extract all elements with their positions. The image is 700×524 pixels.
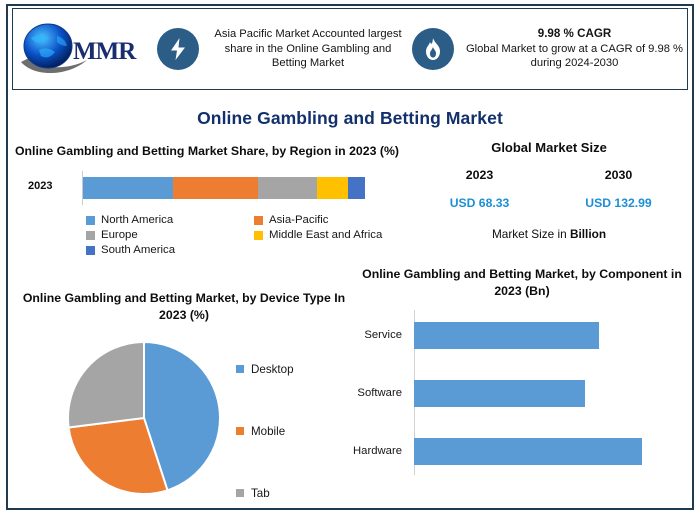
- component-label: Software: [352, 387, 410, 399]
- globe-icon: [21, 22, 77, 72]
- component-label: Hardware: [352, 445, 410, 457]
- region-segment-2: [258, 177, 317, 199]
- flame-icon: [412, 28, 454, 70]
- brand-logo: MMR: [13, 9, 153, 89]
- component-bar-hardware: [414, 438, 642, 465]
- legend-swatch-icon: [86, 231, 95, 240]
- header-band: MMR Asia Pacific Market Accounted larges…: [12, 8, 688, 90]
- header-highlight: Asia Pacific Market Accounted largest sh…: [153, 9, 408, 89]
- region-legend-item: Europe: [86, 229, 254, 241]
- header-cagr: 9.98 % CAGR Global Market to grow at a C…: [408, 9, 686, 89]
- component-title: Online Gambling and Betting Market, by C…: [352, 266, 692, 300]
- market-size-footnote: Market Size in Billion: [410, 227, 688, 241]
- market-size-year-start: 2023: [410, 168, 549, 182]
- region-legend-label: South America: [101, 244, 175, 256]
- legend-swatch-icon: [86, 216, 95, 225]
- legend-swatch-icon: [236, 427, 244, 435]
- market-size-footnote-unit: Billion: [570, 227, 606, 241]
- region-segment-1: [173, 177, 258, 199]
- region-share-chart: Online Gambling and Betting Market Share…: [14, 143, 400, 256]
- device-legend-label: Tab: [251, 487, 270, 500]
- region-legend-item: Middle East and Africa: [254, 229, 422, 241]
- device-legend-item: Desktop: [236, 338, 294, 400]
- region-share-stacked-bar: [83, 177, 365, 199]
- region-segment-4: [348, 177, 365, 199]
- lightning-bolt-icon: [157, 28, 199, 70]
- device-type-title: Online Gambling and Betting Market, by D…: [14, 290, 354, 324]
- cagr-description: Global Market to grow at a CAGR of 9.98 …: [466, 43, 683, 70]
- component-bar-software: [414, 380, 585, 407]
- market-size-value-start: USD 68.33: [410, 196, 549, 210]
- region-legend-label: Asia-Pacific: [269, 214, 329, 226]
- device-legend-item: Mobile: [236, 400, 294, 462]
- infographic-root: MMR Asia Pacific Market Accounted larges…: [0, 0, 700, 518]
- legend-swatch-icon: [254, 231, 263, 240]
- market-size-value-end: USD 132.99: [549, 196, 688, 210]
- pie-chart-graphic: [64, 338, 224, 498]
- header-highlight-text: Asia Pacific Market Accounted largest sh…: [208, 27, 408, 71]
- legend-swatch-icon: [86, 246, 95, 255]
- region-legend-item: South America: [86, 244, 254, 256]
- component-chart: Online Gambling and Betting Market, by C…: [352, 266, 692, 475]
- component-row: Hardware: [352, 434, 692, 468]
- component-label: Service: [352, 329, 410, 341]
- region-segment-0: [83, 177, 173, 199]
- component-row: Software: [352, 376, 692, 410]
- device-type-chart: Online Gambling and Betting Market, by D…: [14, 290, 354, 510]
- region-share-axis-label: 2023: [28, 180, 52, 192]
- market-size-values: USD 68.33 USD 132.99: [410, 196, 688, 210]
- device-type-legend: DesktopMobileTab: [236, 338, 294, 524]
- market-size-footnote-prefix: Market Size in: [492, 227, 570, 241]
- region-legend-item: North America: [86, 214, 254, 226]
- legend-swatch-icon: [236, 365, 244, 373]
- market-size-year-end: 2030: [549, 168, 688, 182]
- market-size-title: Global Market Size: [410, 140, 688, 155]
- component-bar-service: [414, 322, 599, 349]
- device-type-plot: DesktopMobileTab: [14, 330, 354, 510]
- region-segment-3: [317, 177, 348, 199]
- device-legend-label: Mobile: [251, 425, 285, 438]
- component-plot: ServiceSoftwareHardware: [352, 310, 692, 475]
- region-share-title: Online Gambling and Betting Market Share…: [14, 143, 400, 160]
- region-share-legend: North AmericaAsia-PacificEuropeMiddle Ea…: [86, 214, 400, 256]
- component-row: Service: [352, 318, 692, 352]
- device-legend-label: Desktop: [251, 363, 294, 376]
- region-legend-item: Asia-Pacific: [254, 214, 422, 226]
- market-size-years: 2023 2030: [410, 168, 688, 182]
- header-cagr-block: 9.98 % CAGR Global Market to grow at a C…: [463, 27, 686, 71]
- global-market-size-panel: Global Market Size 2023 2030 USD 68.33 U…: [410, 140, 688, 241]
- page-title: Online Gambling and Betting Market: [0, 108, 700, 129]
- legend-swatch-icon: [236, 489, 244, 497]
- legend-swatch-icon: [254, 216, 263, 225]
- region-legend-label: Middle East and Africa: [269, 229, 382, 241]
- region-share-plot: 2023: [14, 171, 400, 205]
- pie-slice-tab: [68, 342, 144, 428]
- device-legend-item: Tab: [236, 462, 294, 524]
- region-legend-label: Europe: [101, 229, 138, 241]
- cagr-headline: 9.98 % CAGR: [463, 27, 686, 42]
- brand-logo-text: MMR: [73, 38, 135, 66]
- region-legend-label: North America: [101, 214, 173, 226]
